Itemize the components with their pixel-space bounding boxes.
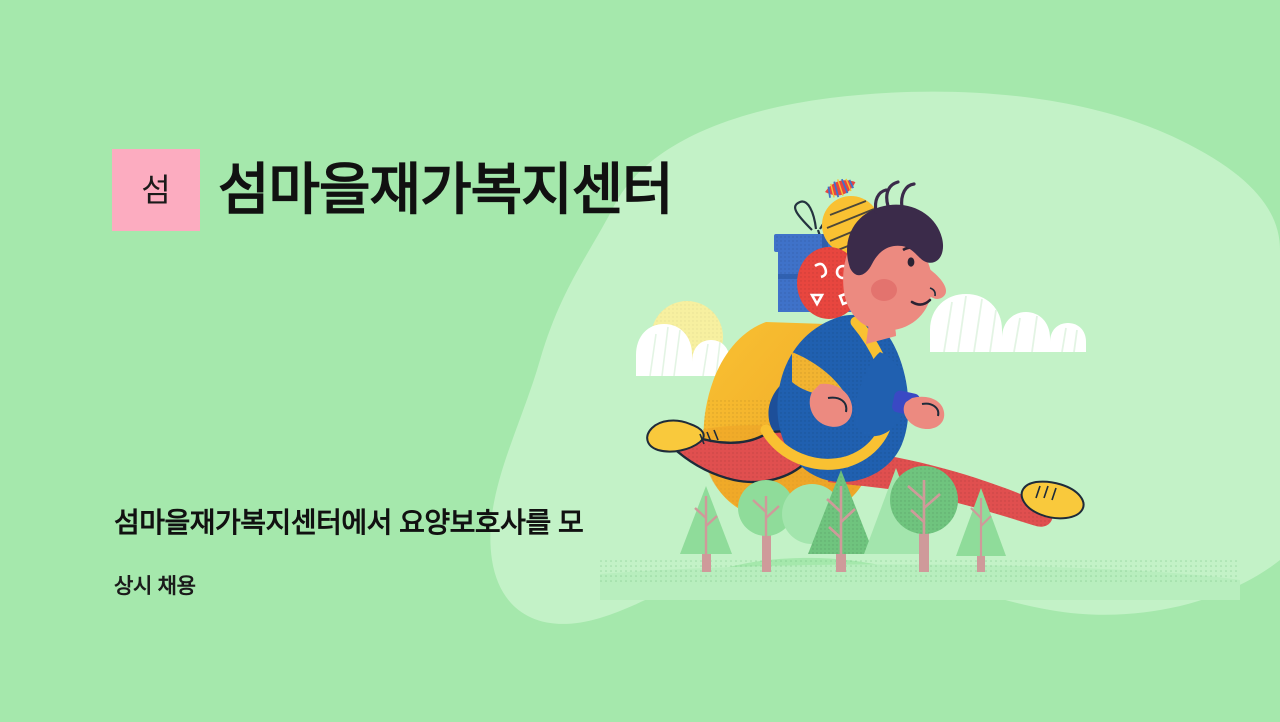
- ground-strip: [600, 560, 1240, 600]
- white-bush-right: [930, 294, 1086, 352]
- runner-hair: [847, 205, 943, 276]
- runner-back-hand: [810, 384, 853, 427]
- company-logo-badge[interactable]: 섬: [112, 149, 200, 231]
- posting-copy: 섬마을재가복지센터에서 요양보호사를 모 상시 채용: [114, 505, 583, 600]
- posting-subline: 상시 채용: [114, 570, 583, 600]
- tree-blob-light: [782, 484, 842, 544]
- organization-title: 섬마을재가복지센터: [218, 162, 673, 218]
- runner-front-arm: [854, 352, 945, 436]
- yellow-sack: [690, 322, 890, 540]
- runner-front-hand: [904, 397, 945, 429]
- runner-front-shoe: [1022, 482, 1084, 519]
- runner-eye: [908, 257, 915, 266]
- confetti-stripe: [823, 175, 859, 201]
- illustration-running-man: [0, 0, 1280, 722]
- gift-box-blue: [774, 202, 882, 312]
- tree-row: [680, 466, 1006, 572]
- runner-back-leg: [647, 421, 806, 482]
- gift-ball-yellow-striped: [822, 196, 880, 254]
- runner-mouth: [912, 300, 930, 305]
- job-posting-banner: 섬 섬마을재가복지센터 섬마을재가복지센터에서 요양보호사를 모 상시 채용: [0, 0, 1280, 722]
- gift-box-yellow-striped: [828, 252, 906, 316]
- runner-wristband: [891, 390, 921, 417]
- tree-round-1: [738, 480, 794, 572]
- sack-strap: [766, 322, 890, 464]
- tree-round-2: [890, 466, 958, 572]
- runner-cheek: [871, 279, 897, 301]
- runner-torso: [777, 315, 908, 482]
- tree-pine-3: [864, 468, 928, 554]
- runner-front-leg: [828, 448, 1084, 527]
- sun-circle: [651, 301, 723, 373]
- gift-ball-red-patterned: [797, 247, 861, 319]
- brand-header: 섬 섬마을재가복지센터: [112, 124, 673, 255]
- white-bush-left: [636, 324, 756, 376]
- logo-badge-text: 섬: [141, 174, 170, 206]
- runner-back-shoe: [647, 421, 703, 452]
- runner-hair-tufts: [875, 182, 914, 212]
- runner-head: [843, 182, 946, 344]
- tree-pine-4: [956, 488, 1006, 572]
- tree-pine-2: [808, 470, 874, 572]
- posting-headline: 섬마을재가복지센터에서 요양보호사를 모: [114, 505, 583, 540]
- gift-bow: [795, 202, 850, 236]
- background-blob: [0, 0, 1280, 722]
- tree-pine-1: [680, 486, 732, 572]
- runner-arm-gap: [792, 352, 844, 395]
- runner-back-arm: [768, 372, 833, 443]
